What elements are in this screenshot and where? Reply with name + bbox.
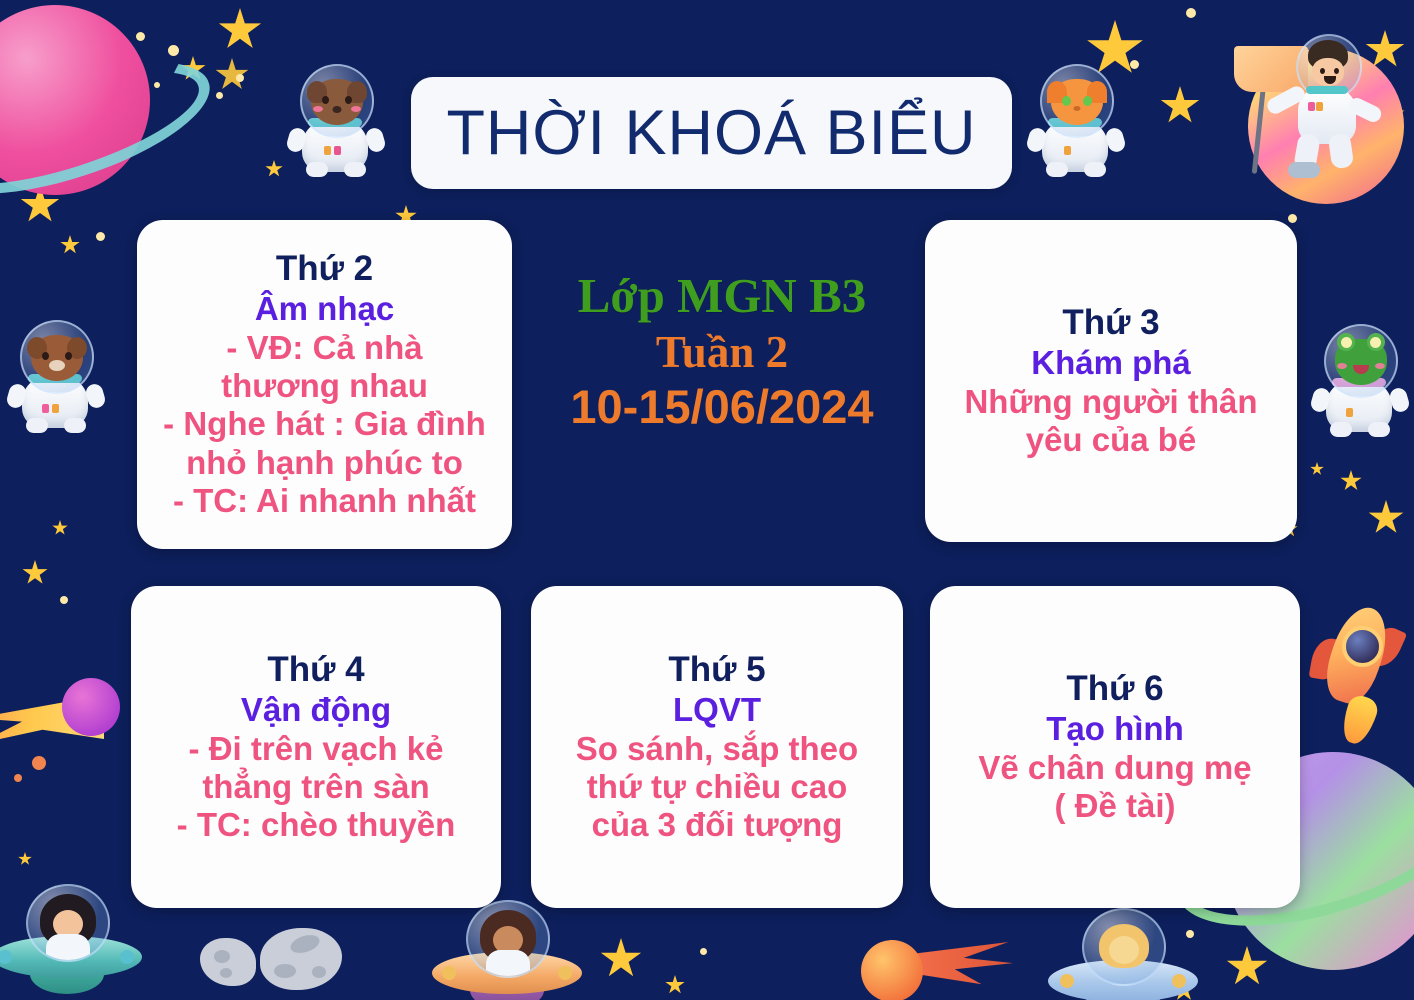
- detail-line: thẳng trên sàn: [202, 768, 429, 806]
- detail-line: yêu của bé: [1026, 421, 1197, 459]
- day-card-thursday[interactable]: Thứ 5 LQVT So sánh, sắp theo thứ tự chiề…: [531, 586, 903, 908]
- day-label: Thứ 5: [668, 650, 765, 689]
- detail-line: - Đi trên vạch kẻ: [189, 730, 444, 768]
- day-card-monday[interactable]: Thứ 2 Âm nhạc - VĐ: Cả nhà thương nhau -…: [137, 220, 512, 549]
- detail-line: ( Đề tài): [1054, 787, 1175, 825]
- day-label: Thứ 3: [1062, 303, 1159, 342]
- subject-label: Tạo hình: [1046, 710, 1183, 748]
- detail-line: - Nghe hát : Gia đình: [163, 405, 486, 443]
- detail-line: - TC: chèo thuyền: [177, 806, 456, 844]
- day-card-tuesday[interactable]: Thứ 3 Khám phá Những người thân yêu của …: [925, 220, 1297, 542]
- detail-line: thương nhau: [221, 367, 428, 405]
- detail-line: nhỏ hạnh phúc to: [186, 444, 463, 482]
- subject-label: Vận động: [241, 691, 391, 729]
- poster-title-card: THỜI KHOÁ BIỂU: [411, 77, 1012, 189]
- schedule-poster: THỜI KHOÁ BIỂU Lớp MGN B3 Tuần 2 10-15/0…: [0, 0, 1414, 1000]
- detail-line: - VĐ: Cả nhà: [226, 329, 422, 367]
- day-label: Thứ 6: [1066, 669, 1163, 708]
- day-card-friday[interactable]: Thứ 6 Tạo hình Vẽ chân dung mẹ ( Đề tài): [930, 586, 1300, 908]
- day-label: Thứ 2: [276, 249, 373, 288]
- detail-line: thứ tự chiều cao: [587, 768, 848, 806]
- subject-label: LQVT: [673, 691, 761, 729]
- detail-line: - TC: Ai nhanh nhất: [173, 482, 476, 520]
- detail-line: So sánh, sắp theo: [576, 730, 858, 768]
- detail-line: Những người thân: [964, 383, 1257, 421]
- subject-label: Khám phá: [1031, 344, 1191, 382]
- detail-line: Vẽ chân dung mẹ: [978, 749, 1251, 787]
- page-title: THỜI KHOÁ BIỂU: [446, 97, 976, 169]
- day-card-wednesday[interactable]: Thứ 4 Vận động - Đi trên vạch kẻ thẳng t…: [131, 586, 501, 908]
- subject-label: Âm nhạc: [255, 290, 394, 328]
- day-label: Thứ 4: [267, 650, 364, 689]
- detail-line: của 3 đối tượng: [592, 806, 843, 844]
